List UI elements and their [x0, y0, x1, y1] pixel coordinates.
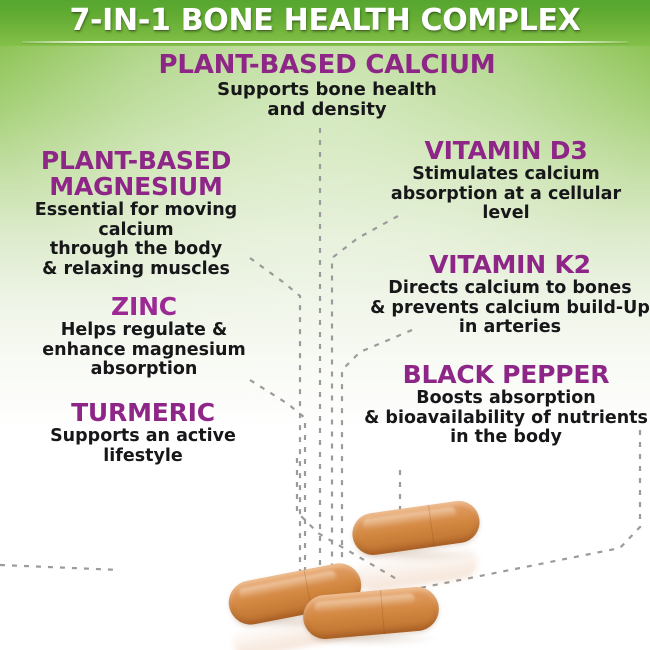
- ingredient-black-pepper: BLACK PEPPER Boosts absorption& bioavail…: [362, 362, 650, 448]
- ingredient-zinc-title: ZINC: [20, 294, 268, 320]
- ingredient-zinc: ZINC Helps regulate &enhance magnesiumab…: [20, 294, 268, 380]
- ingredient-black-pepper-title: BLACK PEPPER: [362, 362, 650, 388]
- ingredient-calcium-description: Supports bone healthand density: [118, 80, 536, 120]
- ingredient-vitamin-k2: VITAMIN K2 Directs calcium to bones& pre…: [370, 252, 650, 338]
- ingredient-vitamin-d3-title: VITAMIN D3: [374, 138, 638, 164]
- ingredient-zinc-description: Helps regulate &enhance magnesiumabsorpt…: [20, 321, 268, 380]
- ingredient-vitamin-d3: VITAMIN D3 Stimulates calciumabsorption …: [374, 138, 638, 224]
- ingredient-vitamin-k2-description: Directs calcium to bones& prevents calci…: [370, 279, 650, 338]
- ingredient-magnesium: PLANT-BASEDMAGNESIUM Essential for movin…: [0, 148, 272, 279]
- ingredient-turmeric-description: Supports an activelifestyle: [18, 427, 268, 466]
- capsule-gloss: [314, 593, 415, 613]
- ingredient-magnesium-description: Essential for moving calciumthrough the …: [0, 201, 272, 279]
- ingredient-vitamin-d3-description: Stimulates calciumabsorption at a cellul…: [374, 165, 638, 224]
- ingredient-turmeric: TURMERIC Supports an activelifestyle: [18, 400, 268, 466]
- header-banner: 7-IN-1 BONE HEALTH COMPLEX: [0, 0, 650, 46]
- ingredient-turmeric-title: TURMERIC: [18, 400, 268, 426]
- page-title: 7-IN-1 BONE HEALTH COMPLEX: [0, 3, 650, 38]
- ingredient-magnesium-title: PLANT-BASEDMAGNESIUM: [0, 148, 272, 200]
- ingredient-calcium: PLANT-BASED CALCIUM Supports bone health…: [118, 52, 536, 120]
- header-divider: [22, 41, 628, 43]
- ingredient-black-pepper-description: Boosts absorption& bioavailability of nu…: [362, 389, 650, 448]
- bone-health-infographic: 7-IN-1 BONE HEALTH COMPLEX PLANT-BASED C…: [0, 0, 650, 650]
- ingredient-calcium-title: PLANT-BASED CALCIUM: [118, 52, 536, 79]
- ingredient-vitamin-k2-title: VITAMIN K2: [370, 252, 650, 278]
